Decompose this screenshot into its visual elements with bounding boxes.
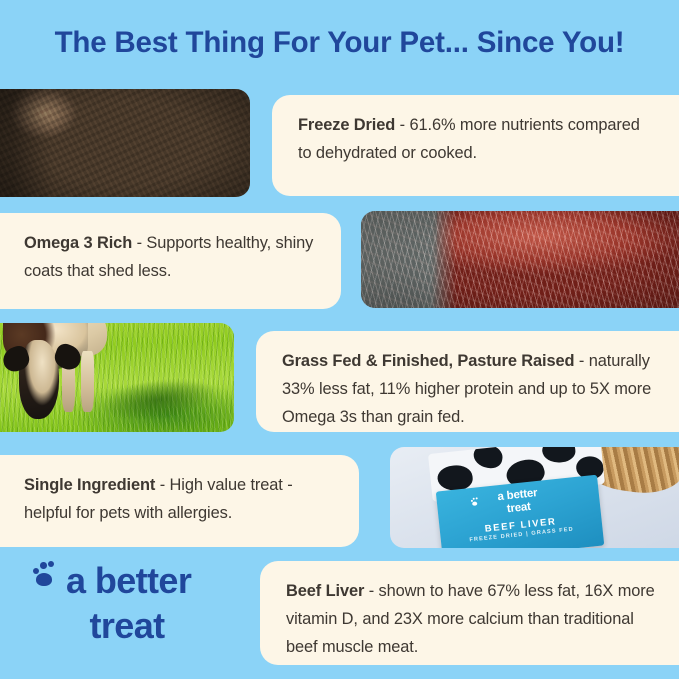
paw-print-icon xyxy=(33,561,59,587)
grazing-cow-pasture-photo xyxy=(0,323,234,432)
page-title: The Best Thing For Your Pet... Since You… xyxy=(0,26,679,60)
benefit-card-freeze-dried: Freeze Dried - 61.6% more nutrients comp… xyxy=(272,95,679,196)
benefit-lead-omega-3-rich: Omega 3 Rich xyxy=(24,234,132,252)
benefit-card-single-ingredient: Single Ingredient - High value treat - h… xyxy=(0,455,359,547)
benefit-separator: - xyxy=(155,476,169,494)
infographic-page: The Best Thing For Your Pet... Since You… xyxy=(0,0,679,679)
benefit-lead-single-ingredient: Single Ingredient xyxy=(24,476,155,494)
product-package-photo: a better treat BEEF LIVER FREEZE DRIED |… xyxy=(390,447,679,548)
benefit-lead-freeze-dried: Freeze Dried xyxy=(298,116,395,134)
benefit-separator: - xyxy=(364,582,378,600)
benefit-card-beef-liver: Beef Liver - shown to have 67% less fat,… xyxy=(260,561,679,665)
photo-vignette-overlay xyxy=(361,211,679,308)
cow-leg-shape xyxy=(81,351,94,412)
benefit-lead-grass-fed: Grass Fed & Finished, Pasture Raised xyxy=(282,352,574,370)
benefit-separator: - xyxy=(132,234,146,252)
benefit-separator: - xyxy=(574,352,588,370)
brand-logo: a better treat xyxy=(22,556,250,666)
benefit-card-grass-fed: Grass Fed & Finished, Pasture Raised - n… xyxy=(256,331,679,432)
raw-beef-liver-photo xyxy=(361,211,679,308)
freeze-dried-treat-cubes-photo xyxy=(0,89,250,197)
brand-name-line-1: a better xyxy=(66,560,191,602)
benefit-card-omega-3-rich: Omega 3 Rich - Supports healthy, shiny c… xyxy=(0,213,341,309)
benefit-lead-beef-liver: Beef Liver xyxy=(286,582,364,600)
brand-name-line-2: treat xyxy=(22,605,232,647)
photo-vignette-overlay xyxy=(0,89,250,197)
benefit-separator: - xyxy=(395,116,409,134)
package-brand-line-2: treat xyxy=(506,502,531,516)
